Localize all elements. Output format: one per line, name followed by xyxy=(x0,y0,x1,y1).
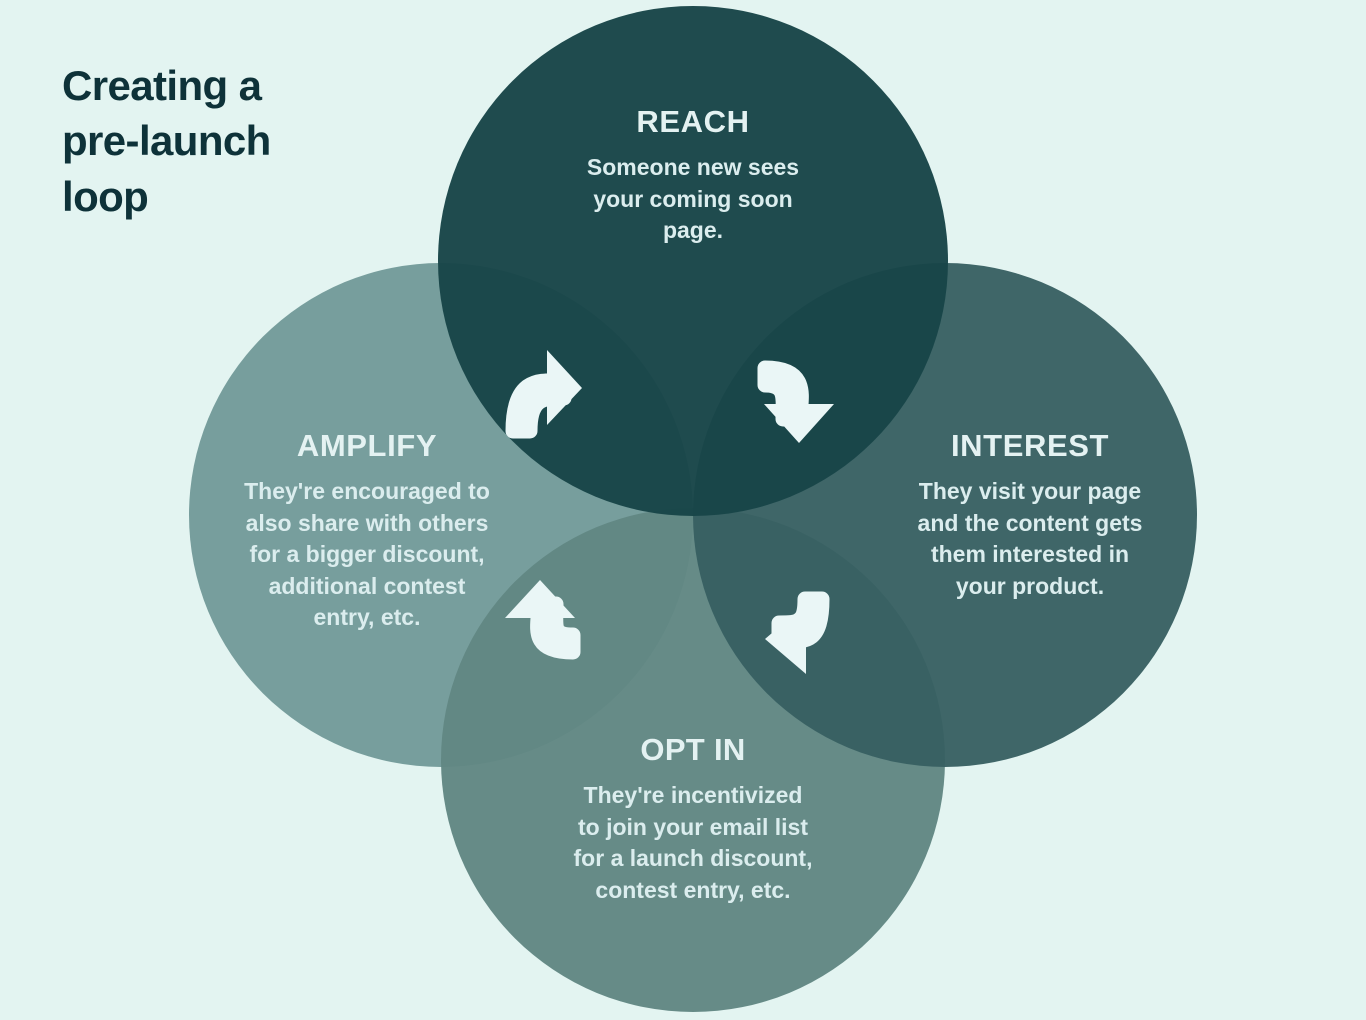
stage-optin-body: They're incentivized to join your email … xyxy=(533,780,853,906)
infographic-canvas: Creating a pre-launch loop xyxy=(0,0,1366,1020)
stage-optin[interactable]: OPT IN They're incentivized to join your… xyxy=(533,732,853,906)
stage-interest-label: INTEREST xyxy=(880,428,1180,464)
stage-reach[interactable]: REACH Someone new sees your coming soon … xyxy=(533,104,853,247)
stage-optin-label: OPT IN xyxy=(533,732,853,768)
stage-interest-body: They visit your page and the content get… xyxy=(880,476,1180,602)
stage-interest[interactable]: INTEREST They visit your page and the co… xyxy=(880,428,1180,602)
stage-amplify-body: They're encouraged to also share with ot… xyxy=(207,476,527,634)
stage-amplify-label: AMPLIFY xyxy=(207,428,527,464)
stage-reach-label: REACH xyxy=(533,104,853,140)
stage-amplify[interactable]: AMPLIFY They're encouraged to also share… xyxy=(207,428,527,634)
stage-reach-body: Someone new sees your coming soon page. xyxy=(533,152,853,247)
